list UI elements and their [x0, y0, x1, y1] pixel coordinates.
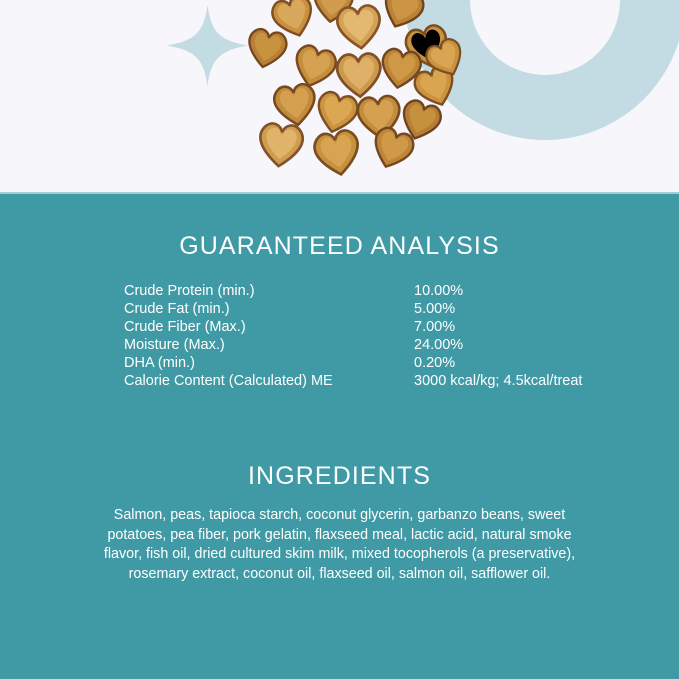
table-row: Crude Protein (min.) 10.00% [124, 282, 644, 300]
nutrition-info-panel: GUARANTEED ANALYSIS Crude Protein (min.)… [0, 194, 679, 679]
nutrient-value: 5.00% [414, 300, 644, 318]
table-row: Crude Fiber (Max.) 7.00% [124, 318, 644, 336]
nutrient-value: 24.00% [414, 336, 644, 354]
treat-piece [239, 21, 295, 74]
nutrient-value: 0.20% [414, 354, 644, 372]
ingredients-list-text: Salmon, peas, tapioca starch, coconut gl… [88, 506, 591, 584]
table-row: DHA (min.) 0.20% [124, 354, 644, 372]
treat-piece [252, 115, 311, 170]
guaranteed-analysis-heading: GUARANTEED ANALYSIS [0, 232, 679, 261]
ingredients-heading: INGREDIENTS [0, 462, 679, 491]
nutrient-label: Crude Protein (min.) [124, 282, 414, 300]
nutrient-label: Crude Fat (min.) [124, 300, 414, 318]
table-row: Calorie Content (Calculated) ME 3000 kca… [124, 372, 644, 390]
product-info-page: GUARANTEED ANALYSIS Crude Protein (min.)… [0, 0, 679, 679]
nutrient-label: DHA (min.) [124, 354, 414, 372]
nutrient-label: Moisture (Max.) [124, 336, 414, 354]
table-row: Moisture (Max.) 24.00% [124, 336, 644, 354]
nutrient-value: 3000 kcal/kg; 4.5kcal/treat [414, 372, 644, 390]
table-row: Crude Fat (min.) 5.00% [124, 300, 644, 318]
heart-shaped-dog-treats-cluster [248, 0, 458, 188]
nutrient-value: 7.00% [414, 318, 644, 336]
nutrient-label: Crude Fiber (Max.) [124, 318, 414, 336]
treat-piece [305, 121, 368, 181]
nutrient-value: 10.00% [414, 282, 644, 300]
guaranteed-analysis-table: Crude Protein (min.) 10.00% Crude Fat (m… [124, 282, 644, 390]
nutrient-label: Calorie Content (Calculated) ME [124, 372, 414, 390]
four-point-sparkle-icon [165, 3, 250, 88]
hero-product-photo-panel [0, 0, 679, 194]
